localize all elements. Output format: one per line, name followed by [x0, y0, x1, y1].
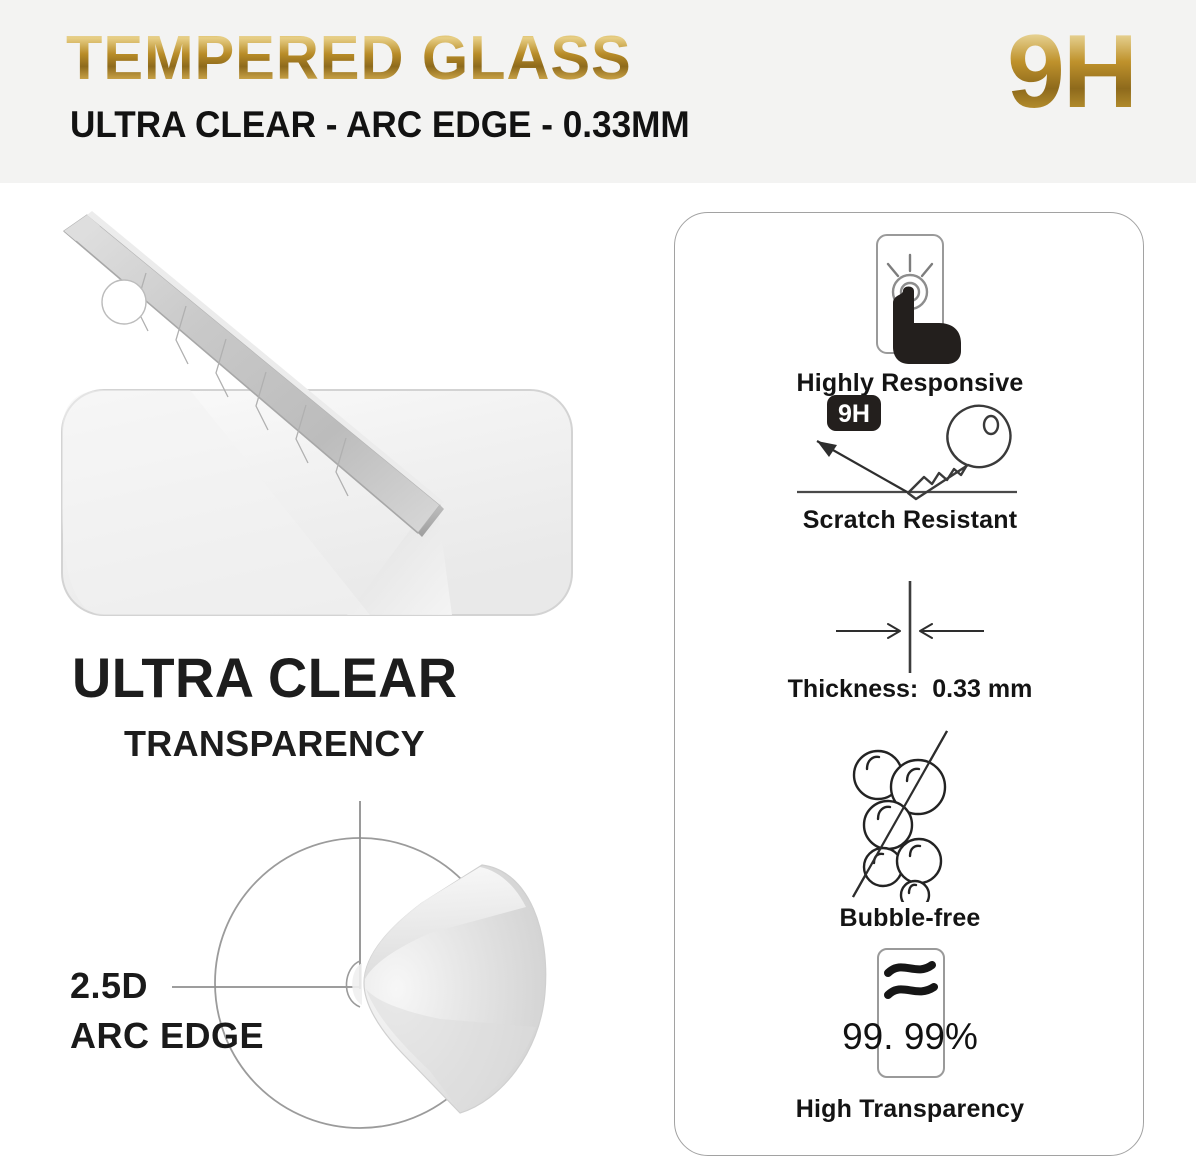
key-deflecting-off-glass-icon: 9H [785, 389, 1035, 504]
product-infographic: TEMPERED GLASS ULTRA CLEAR - ARC EDGE - … [0, 0, 1196, 1161]
arc-label-25d: 2.5D [70, 965, 148, 1007]
blade-over-glass-scene [40, 203, 640, 633]
left-column: ULTRA CLEAR TRANSPARENCY [0, 183, 660, 1161]
feature-thickness: Thickness:0.33 mm [675, 579, 1145, 704]
feature-bubble-free: Bubble-free [675, 727, 1145, 933]
thickness-readout: Thickness:0.33 mm [675, 675, 1145, 704]
transparency-percent: 99. 99% [842, 1016, 978, 1057]
scratch-badge-9h: 9H [838, 400, 870, 428]
phone-with-shine-lines-icon: 99. 99% [810, 943, 1010, 1093]
header-inner: TEMPERED GLASS ULTRA CLEAR - ARC EDGE - … [8, 0, 1188, 183]
thickness-label-text: Thickness: [788, 675, 919, 703]
arc-edge-scene: 2.5D ARC EDGE [30, 783, 650, 1153]
feature-panel: Highly Responsive 9H Scratch Resistant [674, 212, 1144, 1156]
title-block: TEMPERED GLASS ULTRA CLEAR - ARC EDGE - … [66, 28, 722, 146]
finger-tap-on-phone-icon [835, 227, 985, 367]
page-title: TEMPERED GLASS [66, 28, 696, 90]
feature-label: Scratch Resistant [675, 506, 1145, 535]
feature-highly-responsive: Highly Responsive [675, 227, 1145, 398]
arc-label-arc-edge: ARC EDGE [70, 1015, 264, 1057]
thickness-value: 0.33 mm [932, 675, 1032, 703]
page-subtitle: ULTRA CLEAR - ARC EDGE - 0.33MM [70, 104, 690, 146]
inward-arrows-thickness-icon [800, 579, 1020, 675]
feature-label: Bubble-free [675, 904, 1145, 933]
ultra-clear-heading: ULTRA CLEAR [72, 645, 458, 710]
feature-high-transparency: 99. 99% High Transparency [675, 943, 1145, 1124]
bubbles-with-strike-line-icon [815, 727, 1005, 902]
hardness-badge-9h: 9H [1007, 20, 1136, 124]
feature-scratch-resistant: 9H Scratch Resistant [675, 389, 1145, 535]
transparency-subheading: TRANSPARENCY [124, 723, 425, 765]
feature-label: High Transparency [675, 1095, 1145, 1124]
header-band: TEMPERED GLASS ULTRA CLEAR - ARC EDGE - … [0, 0, 1196, 183]
utility-knife-blade-icon [40, 203, 640, 633]
